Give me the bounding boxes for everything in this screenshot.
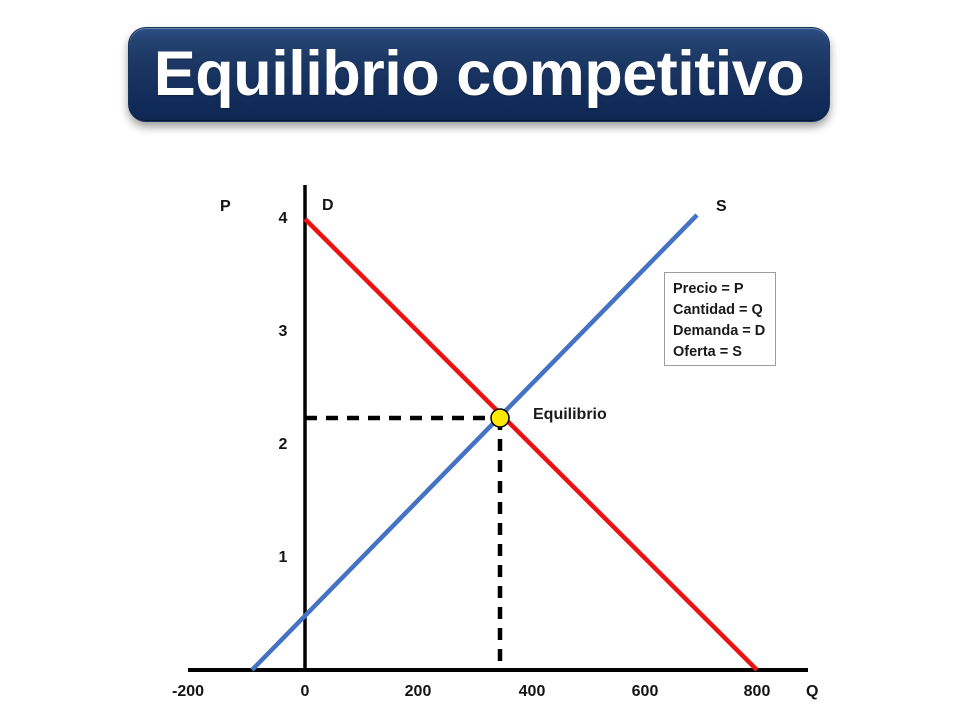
legend-box: Precio = P Cantidad = Q Demanda = D Ofer… <box>664 272 776 366</box>
supply-demand-chart: P Q D S 4 3 2 1 -200 0 200 400 600 800 <box>150 170 850 715</box>
title-banner: Equilibrio competitivo <box>128 27 830 122</box>
equilibrium-annotation-label: Equilibrio <box>533 406 607 424</box>
y-axis-title: P <box>220 198 231 216</box>
legend-item-cantidad: Cantidad = Q <box>673 300 775 321</box>
page-title: Equilibrio competitivo <box>154 43 805 106</box>
supply-curve <box>252 215 697 670</box>
x-tick-label-800: 800 <box>732 683 782 701</box>
x-tick-label-0: 0 <box>285 683 325 701</box>
legend-item-precio: Precio = P <box>673 279 775 300</box>
x-tick-label-200: 200 <box>393 683 443 701</box>
legend-item-demanda: Demanda = D <box>673 321 775 342</box>
chart-plot-svg <box>150 170 850 715</box>
y-tick-label-4: 4 <box>274 210 292 228</box>
y-tick-label-2: 2 <box>274 436 292 454</box>
supply-curve-label: S <box>716 198 727 216</box>
y-tick-label-3: 3 <box>274 323 292 341</box>
y-tick-label-1: 1 <box>274 549 292 567</box>
x-axis-title: Q <box>806 683 818 701</box>
legend-item-oferta: Oferta = S <box>673 342 775 363</box>
x-tick-label--200: -200 <box>158 683 218 701</box>
slide-canvas: Equilibrio competitivo P Q D <box>0 0 960 720</box>
demand-curve-label: D <box>322 197 334 215</box>
equilibrium-point-marker <box>491 409 509 427</box>
x-tick-label-400: 400 <box>507 683 557 701</box>
x-tick-label-600: 600 <box>620 683 670 701</box>
